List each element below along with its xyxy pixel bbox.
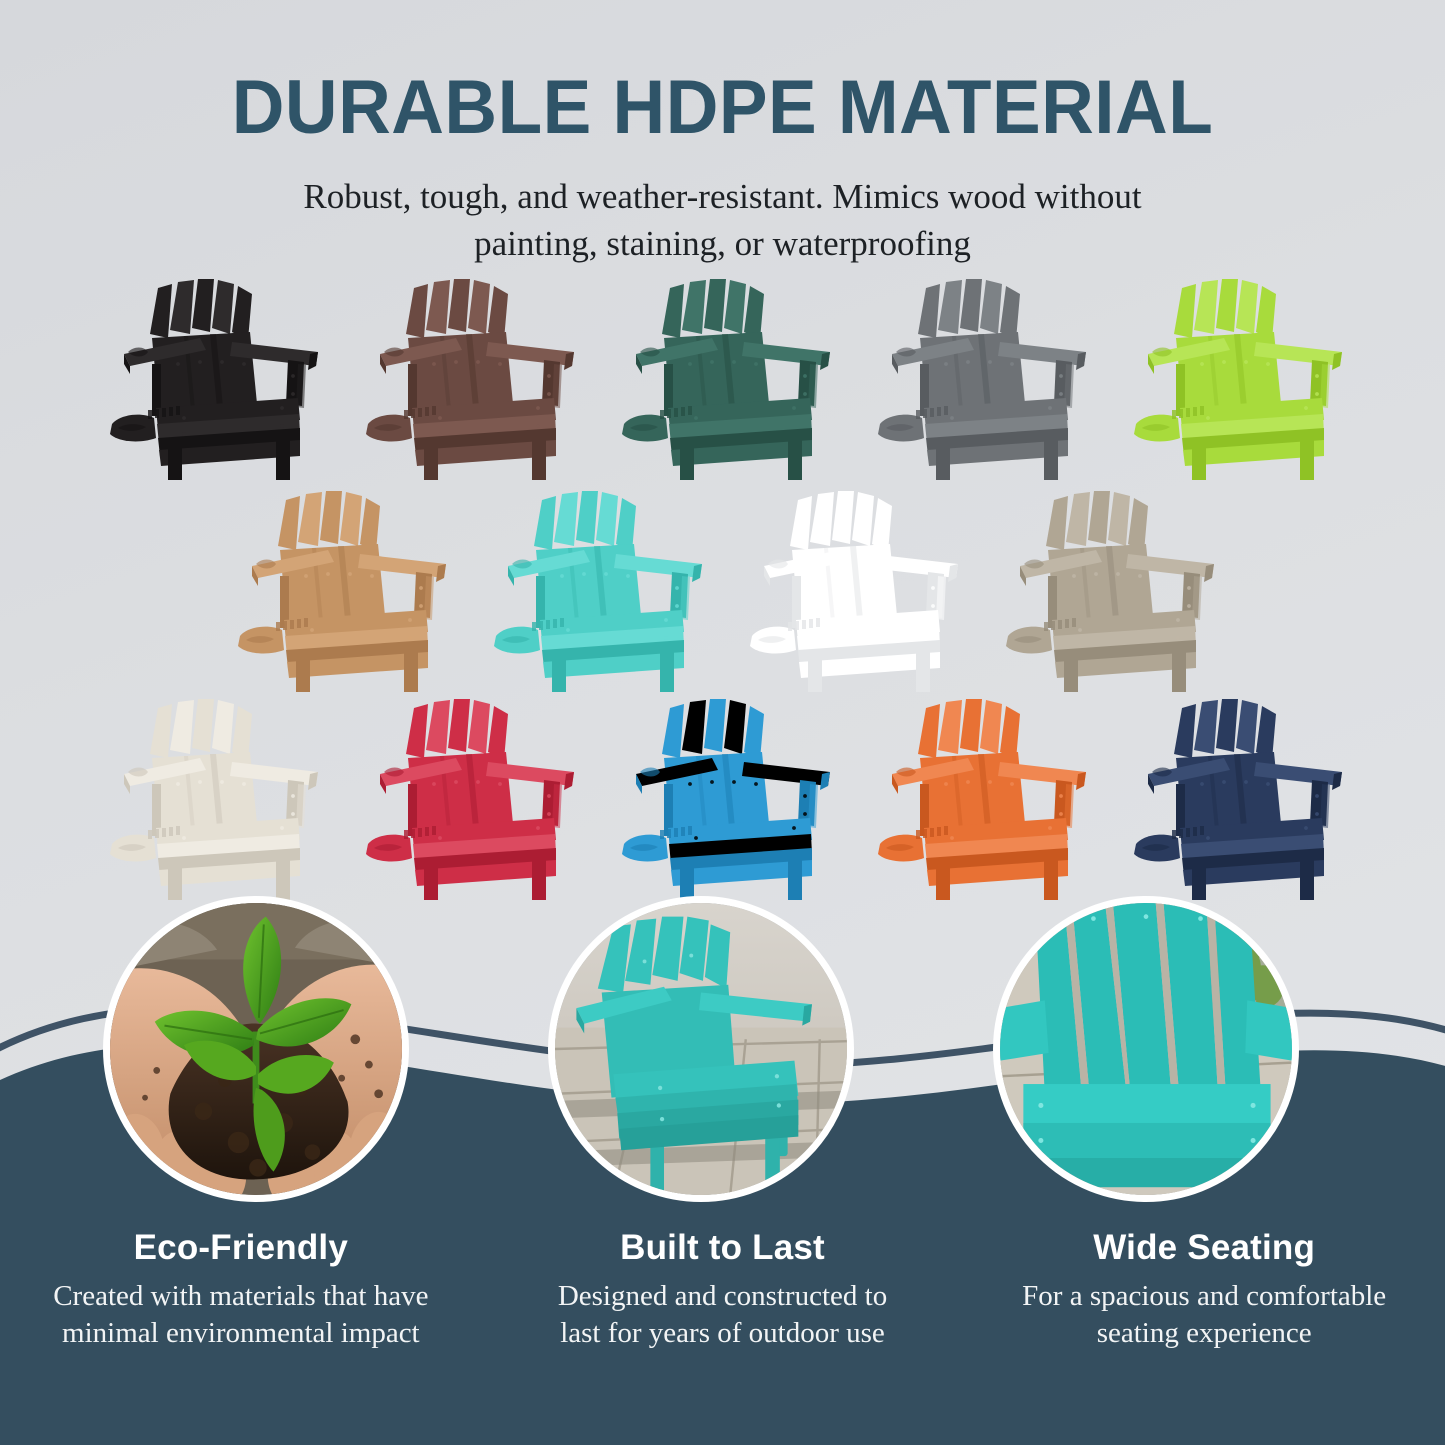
page-subtitle: Robust, tough, and weather-resistant. Mi… (223, 174, 1223, 268)
subtitle-line-1: Robust, tough, and weather-resistant. Mi… (303, 177, 1141, 216)
feature-body: For a spacious and comfortable seating e… (981, 1278, 1427, 1351)
adirondack-chair-icon (348, 268, 586, 480)
adirondack-chair-icon (92, 688, 330, 900)
adirondack-chair-icon (860, 268, 1098, 480)
chair-swatch-red[interactable] (348, 688, 586, 900)
feature-heading: Eco-Friendly (18, 1228, 464, 1268)
feature-body: Created with materials that have minimal… (18, 1278, 464, 1351)
chair-swatch-brown[interactable] (348, 268, 586, 480)
chair-swatch-navy-blue[interactable] (1116, 688, 1354, 900)
feature-caption-eco-friendly: Eco-Friendly Created with materials that… (0, 1228, 482, 1408)
adirondack-chair-icon (476, 480, 714, 692)
chair-row-3 (0, 688, 1445, 900)
page-title: DURABLE HDPE MATERIAL (29, 70, 1416, 146)
feature-body-line-1: Designed and constructed to (558, 1280, 887, 1312)
chair-swatch-turquoise[interactable] (476, 480, 714, 692)
adirondack-chair-icon (1116, 268, 1354, 480)
chair-swatch-lime-green[interactable] (1116, 268, 1354, 480)
feature-body: Designed and constructed to last for yea… (500, 1278, 946, 1351)
feature-body-line-2: minimal environmental impact (62, 1317, 420, 1349)
feature-caption-row: Eco-Friendly Created with materials that… (0, 1228, 1445, 1408)
feature-photo-eco-friendly (103, 896, 409, 1202)
chair-swatch-ivory[interactable] (92, 688, 330, 900)
chair-swatch-black[interactable] (92, 268, 330, 480)
chair-swatch-blue[interactable] (604, 688, 842, 900)
chair-row-2 (0, 480, 1445, 692)
chair-row-1 (0, 268, 1445, 480)
chair-swatch-gray[interactable] (860, 268, 1098, 480)
feature-photo-row (0, 896, 1445, 1216)
chair-swatch-white[interactable] (732, 480, 970, 692)
infographic-canvas: DURABLE HDPE MATERIAL Robust, tough, and… (0, 0, 1445, 1445)
feature-heading: Built to Last (500, 1228, 946, 1268)
subtitle-line-2: painting, staining, or waterproofing (474, 224, 971, 263)
feature-body-line-2: last for years of outdoor use (560, 1317, 885, 1349)
chair-swatch-dark-green[interactable] (604, 268, 842, 480)
adirondack-chair-icon (1116, 688, 1354, 900)
feature-caption-built-to-last: Built to Last Designed and constructed t… (482, 1228, 964, 1408)
chair-swatch-orange[interactable] (860, 688, 1098, 900)
chair-color-grid (0, 268, 1445, 908)
adirondack-chair-icon (604, 268, 842, 480)
feature-heading: Wide Seating (981, 1228, 1427, 1268)
adirondack-chair-icon (860, 688, 1098, 900)
header-block: DURABLE HDPE MATERIAL Robust, tough, and… (0, 70, 1445, 268)
feature-photo-built-to-last (548, 896, 854, 1202)
feature-body-line-1: Created with materials that have (53, 1280, 428, 1312)
adirondack-chair-icon (604, 688, 842, 900)
adirondack-chair-icon (988, 480, 1226, 692)
feature-caption-wide-seating: Wide Seating For a spacious and comforta… (963, 1228, 1445, 1408)
chair-swatch-teak-tan[interactable] (220, 480, 458, 692)
feature-body-line-1: For a spacious and comfortable (1022, 1280, 1386, 1312)
adirondack-chair-icon (92, 268, 330, 480)
feature-body-line-2: seating experience (1097, 1317, 1312, 1349)
chair-swatch-weathered-wood[interactable] (988, 480, 1226, 692)
adirondack-chair-icon (348, 688, 586, 900)
feature-photo-wide-seating (993, 896, 1299, 1202)
adirondack-chair-icon (732, 480, 970, 692)
adirondack-chair-icon (220, 480, 458, 692)
